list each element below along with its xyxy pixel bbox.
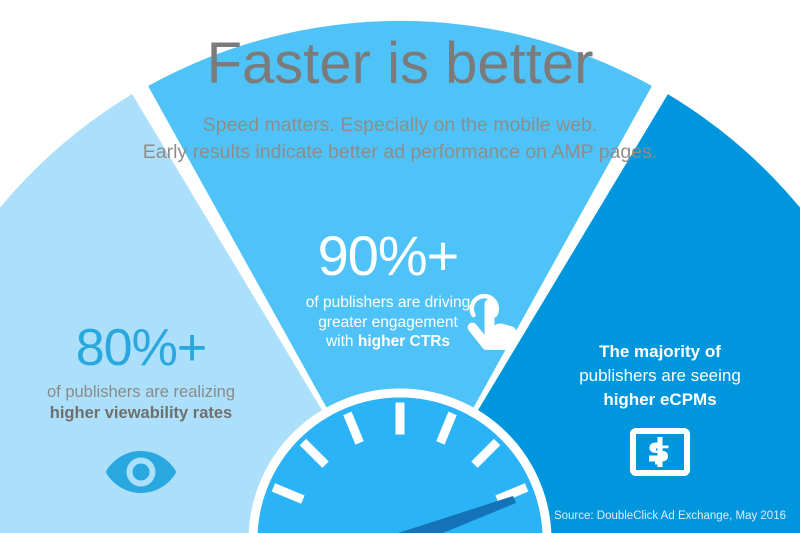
infographic-canvas: Faster is better Speed matters. Especial…: [0, 0, 800, 533]
ecpm-line-3: higher eCPMs: [545, 388, 775, 412]
stat-viewability: 80%+: [6, 322, 276, 374]
page-subtitle: Speed matters. Especially on the mobile …: [0, 96, 800, 166]
ecpm-line-2: publishers are seeing: [545, 364, 775, 388]
header: Faster is better Speed matters. Especial…: [0, 0, 800, 165]
ctr-prefix: with: [326, 333, 358, 350]
stat-engagement: 90%+: [243, 228, 533, 284]
segment-middle: 90%+ of publishers are driving greater e…: [243, 228, 533, 352]
subtitle-line-1: Speed matters. Especially on the mobile …: [0, 112, 800, 139]
money-bill-icon: [630, 428, 690, 476]
page-title: Faster is better: [0, 0, 800, 96]
ecpm-line-1: The majority of: [545, 340, 775, 364]
ctr-emphasis: higher CTRs: [358, 333, 450, 350]
segment-right: The majority of publishers are seeing hi…: [545, 340, 775, 412]
eye-icon: [104, 450, 178, 494]
tap-hand-icon: [465, 294, 517, 352]
segment-left: 80%+ of publishers are realizing higher …: [6, 322, 276, 424]
stat-viewability-description-2: higher viewability rates: [6, 403, 276, 424]
stat-viewability-description-1: of publishers are realizing: [6, 374, 276, 403]
subtitle-line-2: Early results indicate better ad perform…: [0, 139, 800, 166]
source-attribution: Source: DoubleClick Ad Exchange, May 201…: [554, 510, 786, 522]
